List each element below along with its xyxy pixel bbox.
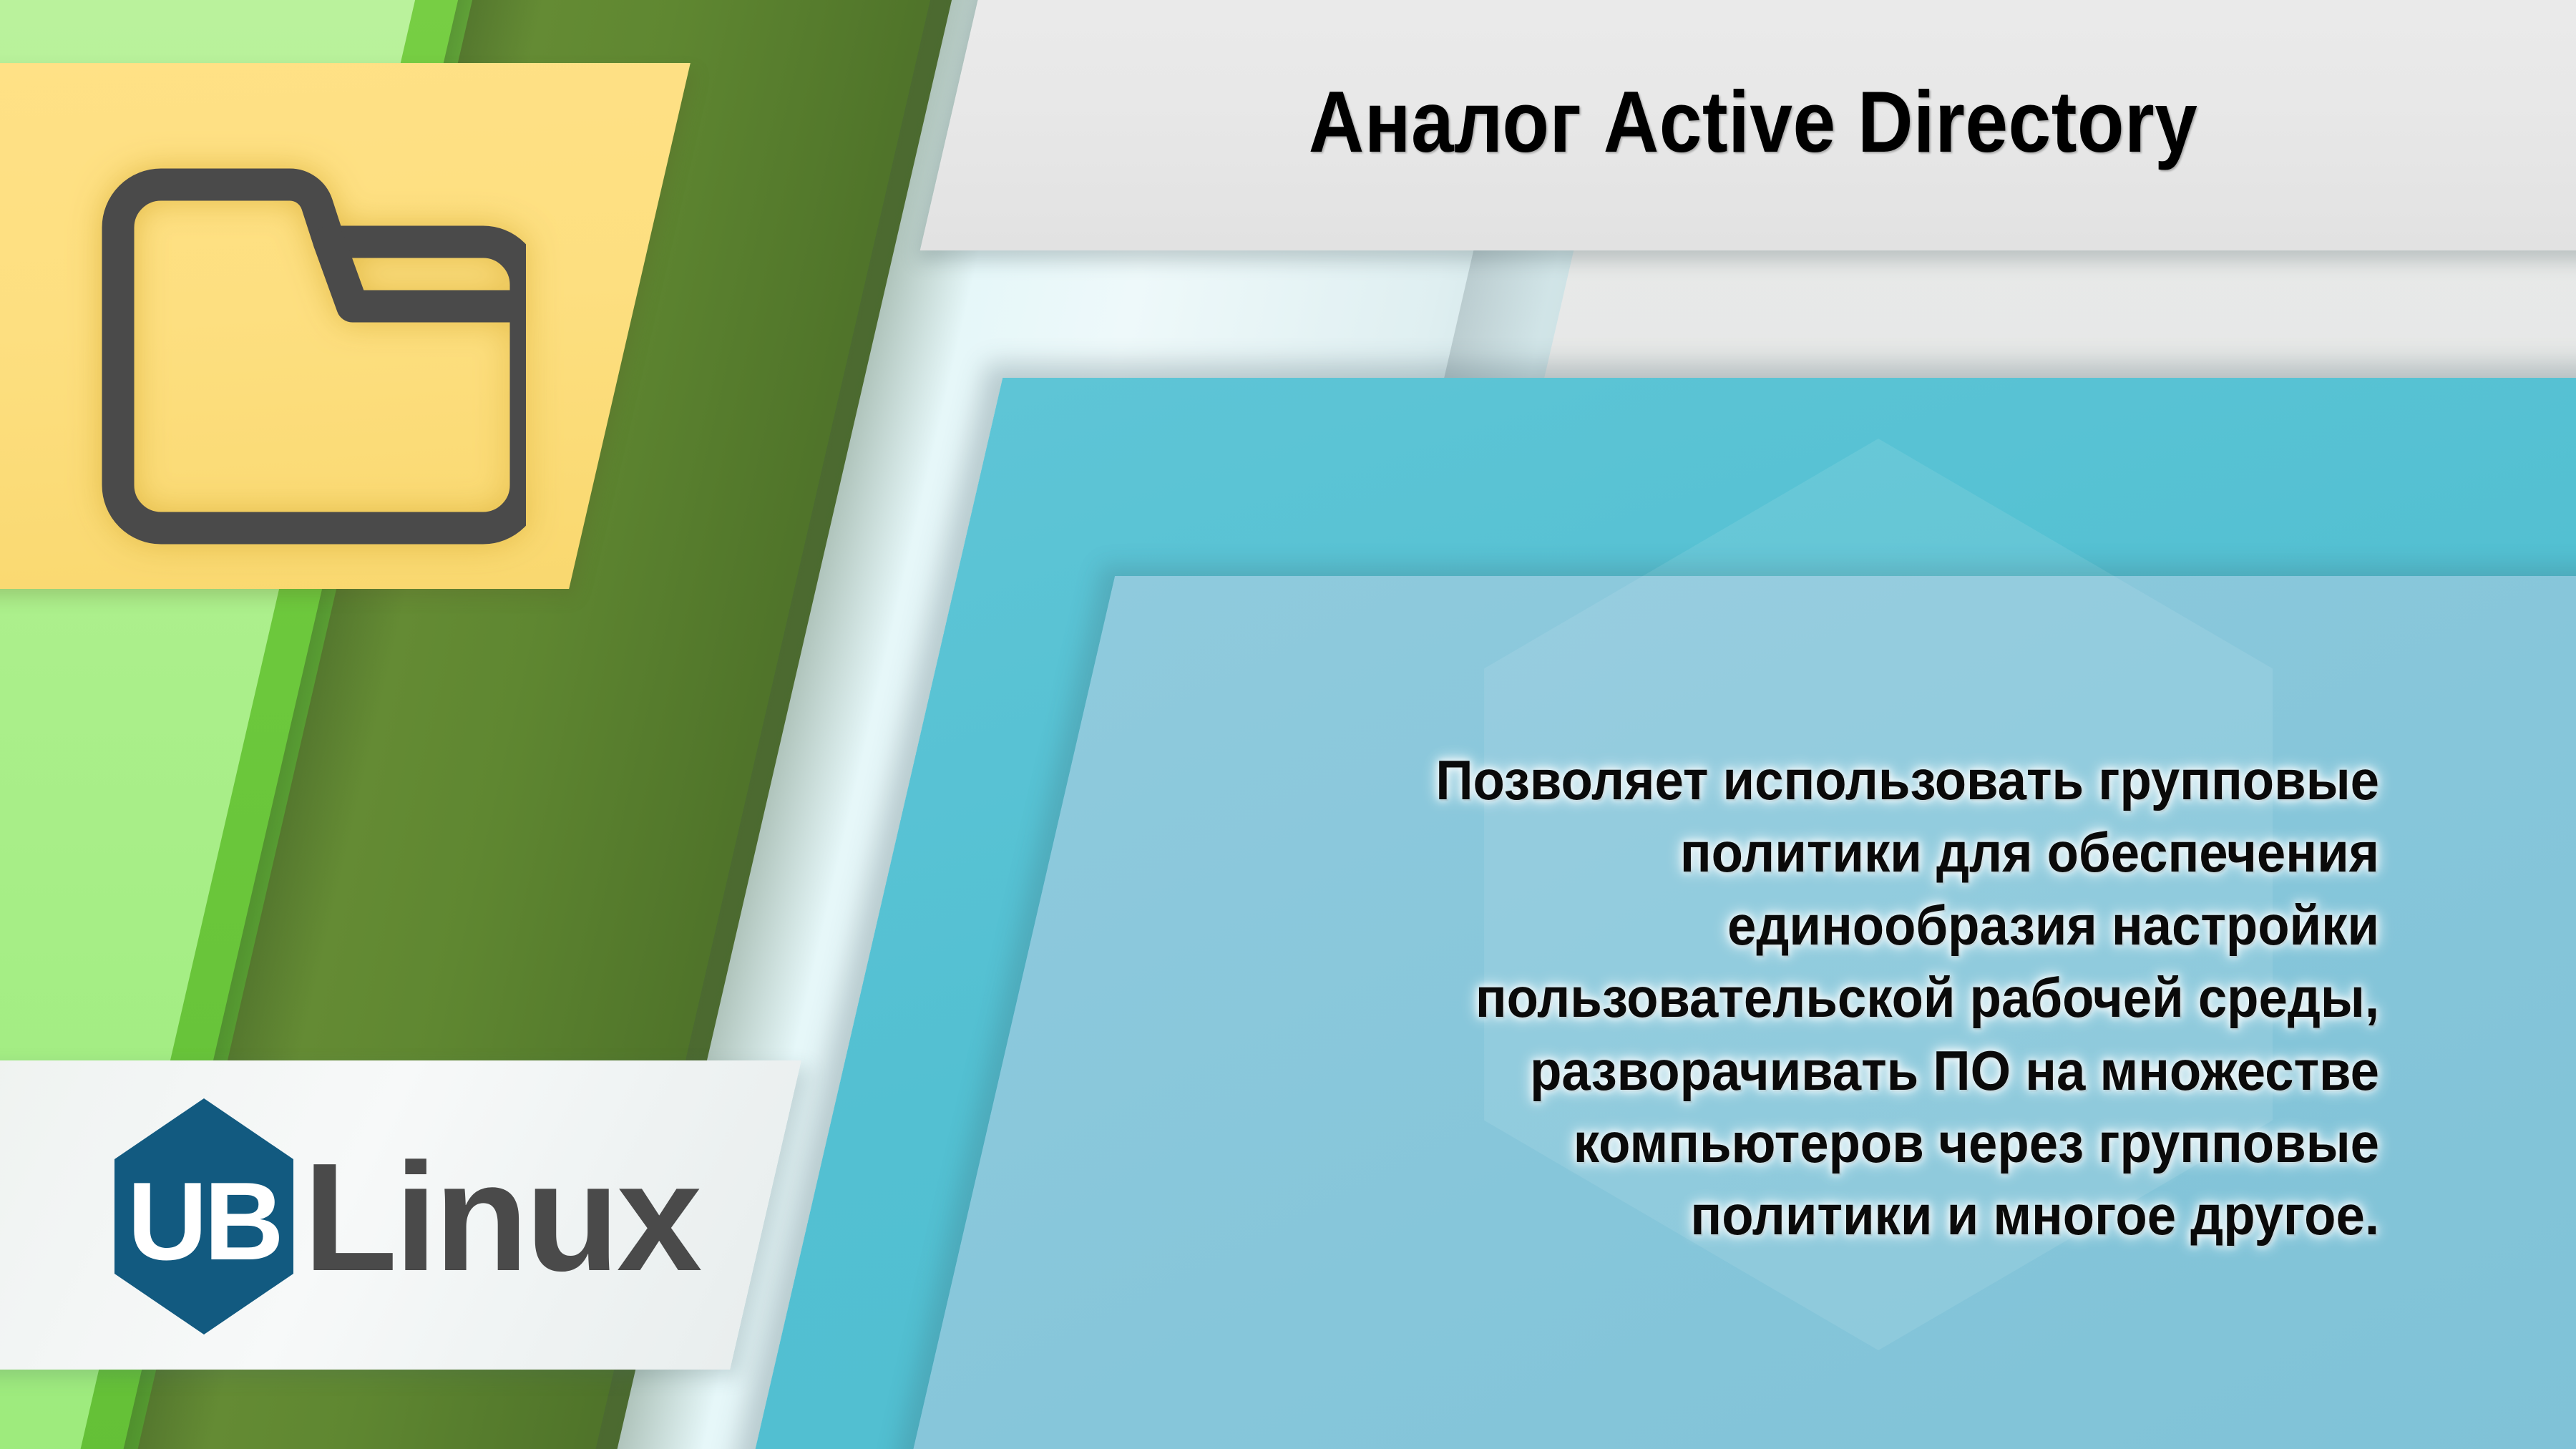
body-line: разворачивать ПО на множестве bbox=[1381, 1035, 2379, 1107]
body-line: политики для обеспечения bbox=[1381, 816, 2379, 889]
ub-hexagon-icon: UB bbox=[114, 1098, 293, 1335]
body-line: пользовательской рабочей среды, bbox=[1381, 962, 2379, 1034]
folder-icon bbox=[82, 149, 526, 557]
body-line: Позволяет использовать групповые bbox=[1381, 744, 2379, 816]
body-line: единообразия настройки bbox=[1381, 889, 2379, 962]
presentation-slide: Аналог Active Directory Позволяет исполь… bbox=[0, 0, 2576, 1449]
body-paragraph: Позволяет использовать групповые политик… bbox=[1381, 744, 2379, 1252]
logo-wordmark: Linux bbox=[303, 1140, 699, 1294]
body-line: компьютеров через групповые bbox=[1381, 1107, 2379, 1179]
svg-text:UB: UB bbox=[127, 1159, 280, 1283]
brand-logo: UB Linux bbox=[114, 1088, 830, 1345]
body-line: политики и многое другое. bbox=[1381, 1179, 2379, 1252]
page-title: Аналог Active Directory bbox=[1092, 57, 2414, 186]
